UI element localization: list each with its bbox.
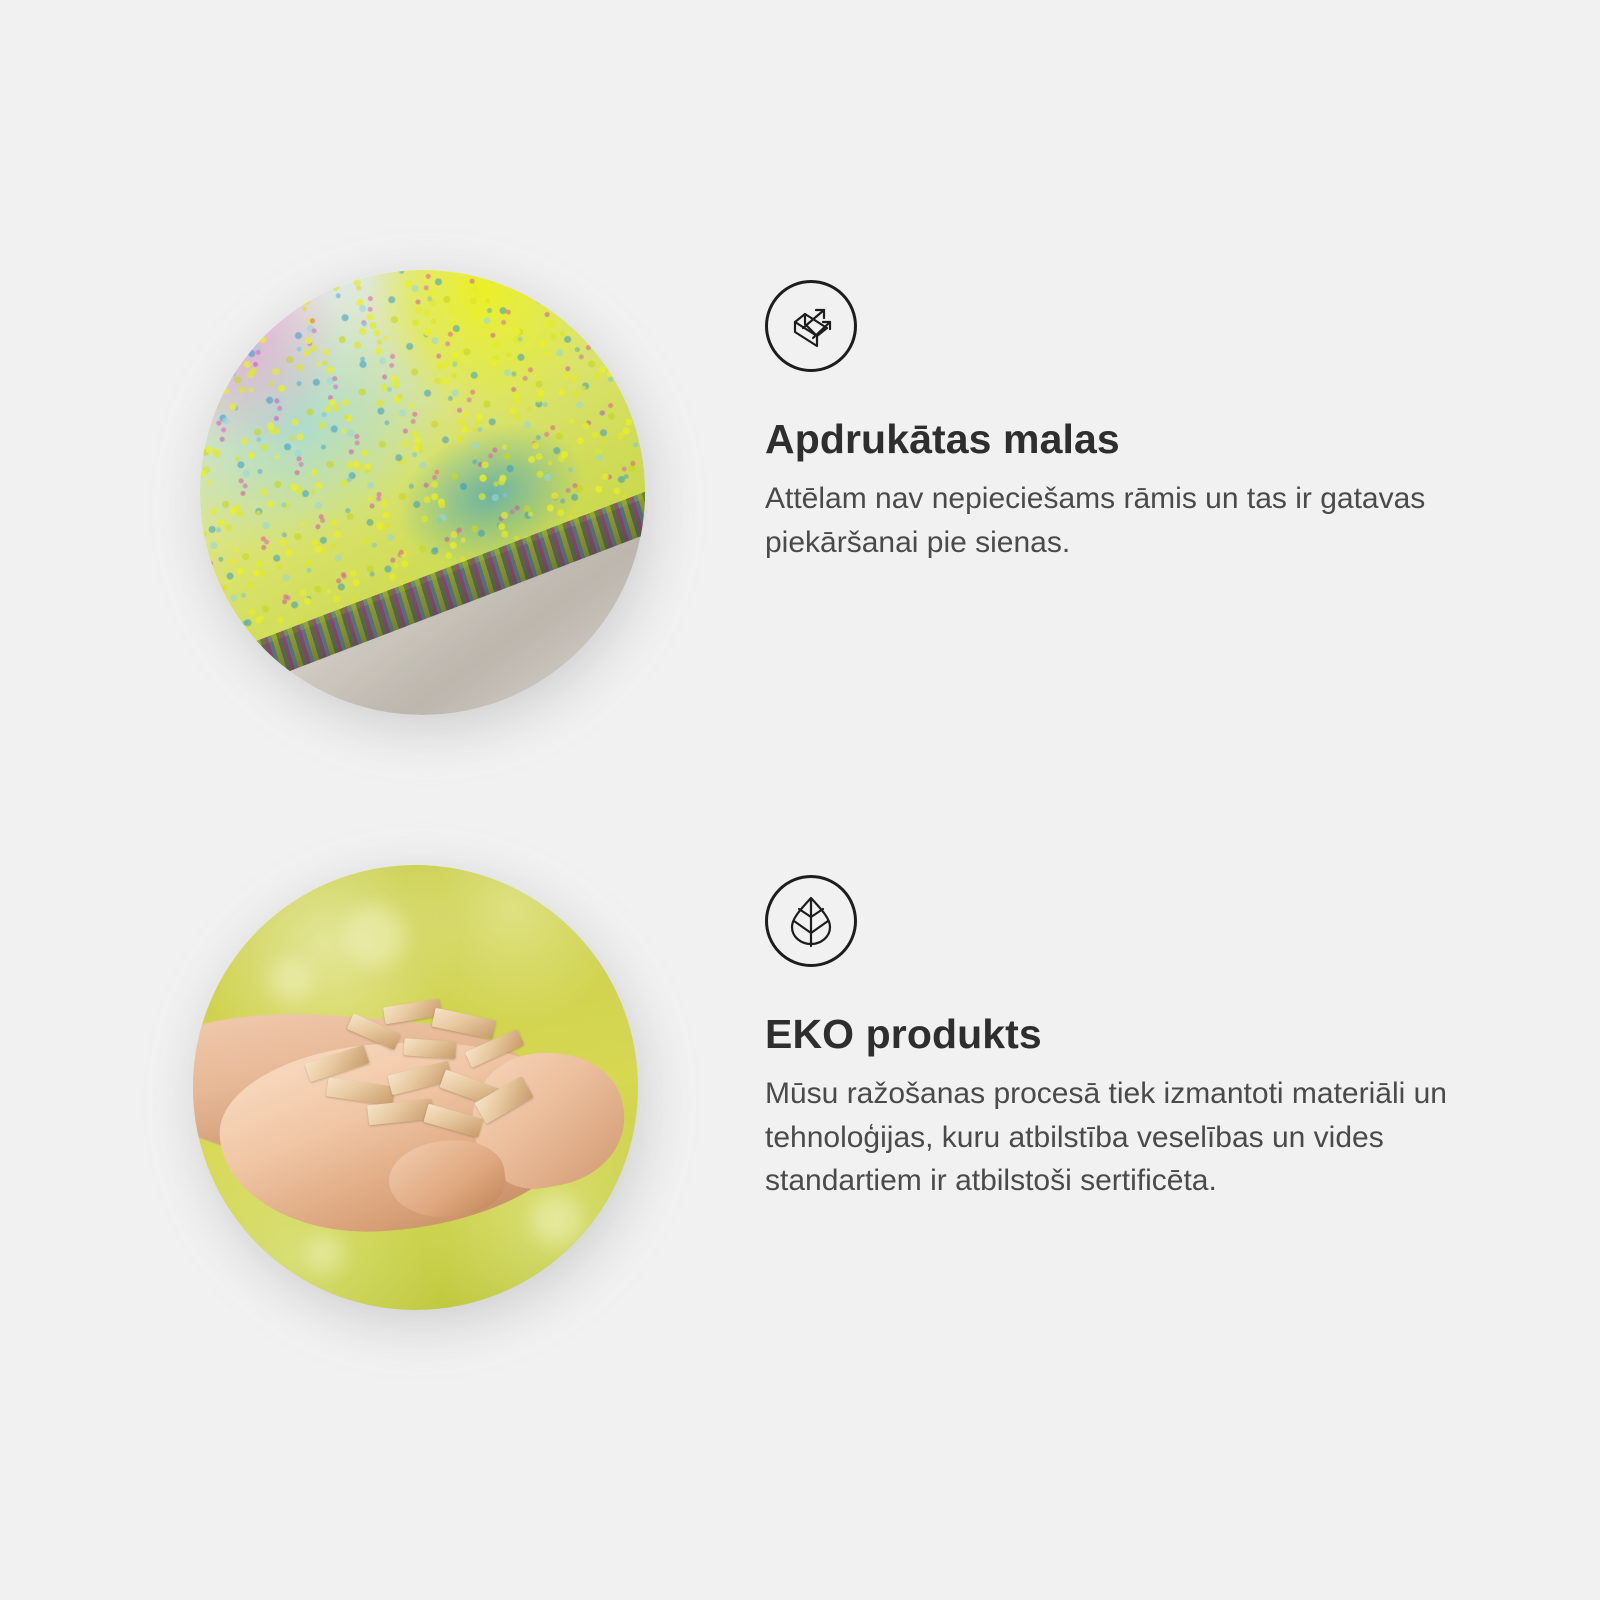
feature-media-printed-edges xyxy=(200,270,700,770)
wood-chip xyxy=(305,1045,370,1082)
canvas-wrapped-edges-icon xyxy=(765,280,857,372)
bokeh-highlight xyxy=(304,1234,344,1274)
feature-description: Attēlam nav nepieciešams rāmis un tas ir… xyxy=(765,477,1465,564)
feature-text-eco-product: EKO produkts Mūsu ražošanas procesā tiek… xyxy=(765,865,1465,1203)
canvas-corner-photo xyxy=(200,270,645,715)
bokeh-highlight xyxy=(344,905,406,967)
wood-chip-pile xyxy=(291,994,549,1136)
feature-description: Mūsu ražošanas procesā tiek izmantoti ma… xyxy=(765,1072,1465,1203)
bokeh-highlight xyxy=(531,1194,583,1246)
feature-title: Apdrukātas malas xyxy=(765,418,1465,461)
feature-text-printed-edges: Apdrukātas malas Attēlam nav nepieciešam… xyxy=(765,270,1465,564)
feature-block-eco-product: EKO produkts Mūsu ražošanas procesā tiek… xyxy=(193,865,1465,1365)
hands-with-wood-chips-photo xyxy=(193,865,638,1310)
leaf-icon xyxy=(765,875,857,967)
product-feature-panel: Apdrukātas malas Attēlam nav nepieciešam… xyxy=(0,0,1600,1600)
feature-block-printed-edges: Apdrukātas malas Attēlam nav nepieciešam… xyxy=(200,270,1465,770)
wood-chip xyxy=(432,1008,496,1039)
wood-chip xyxy=(404,1038,457,1059)
feature-media-eco-product xyxy=(193,865,693,1365)
wood-chip xyxy=(424,1103,484,1136)
wood-chip xyxy=(326,1078,395,1106)
feature-title: EKO produkts xyxy=(765,1013,1465,1056)
